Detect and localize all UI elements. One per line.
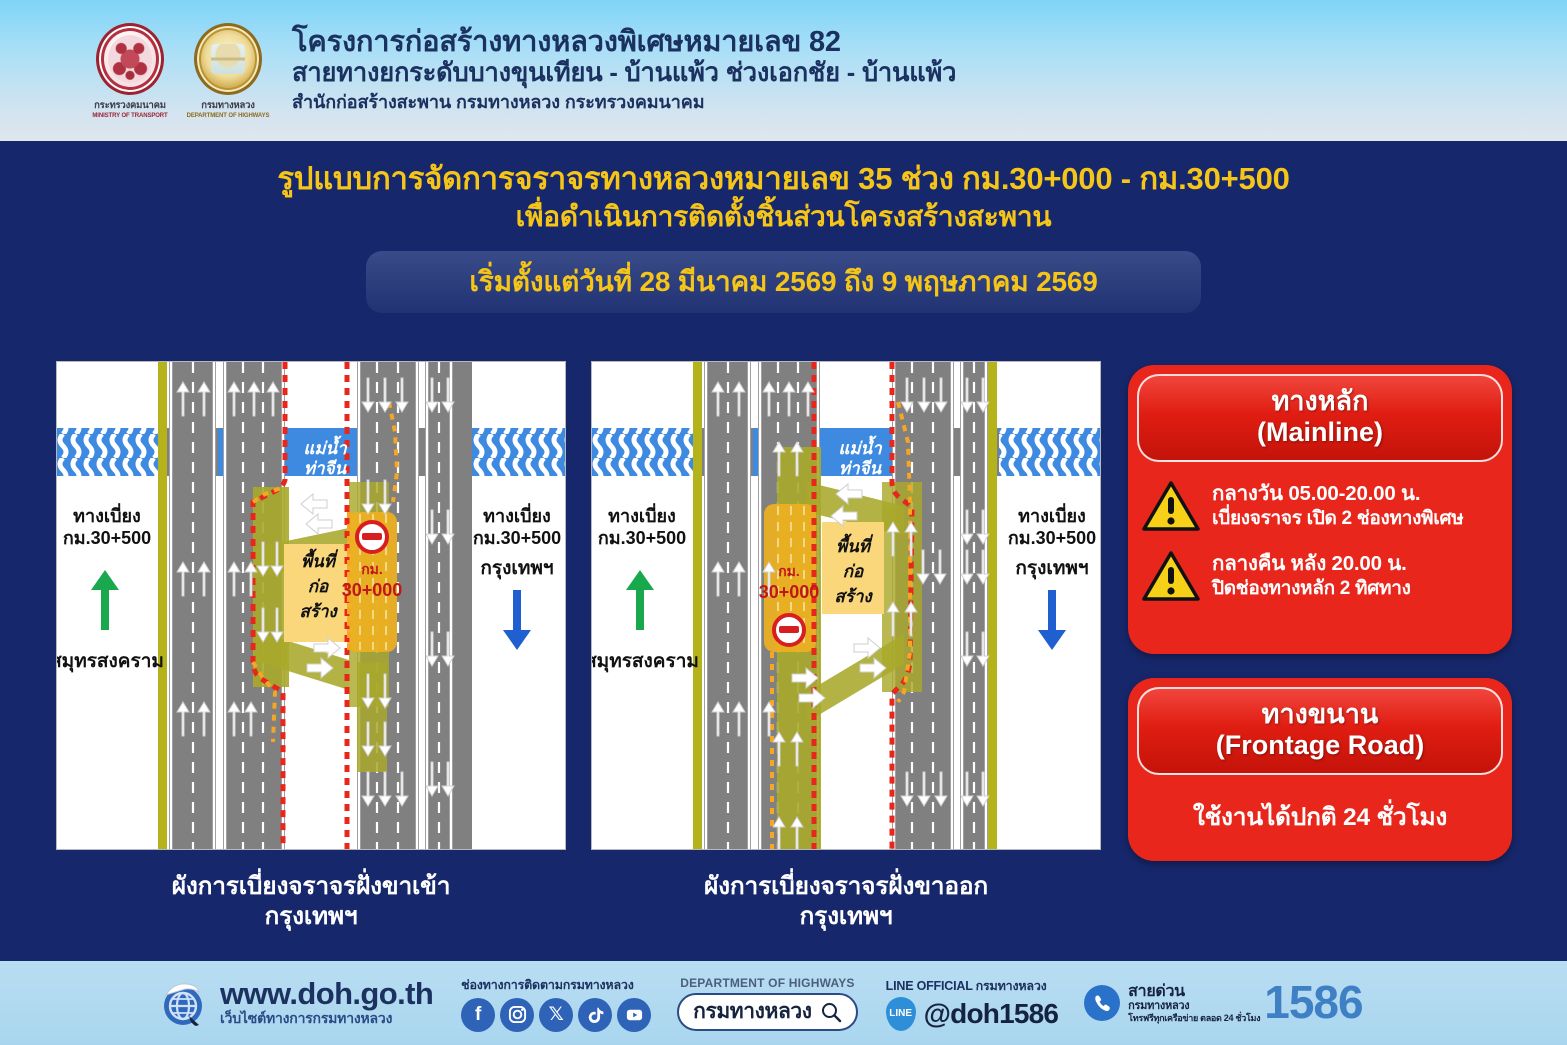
detour-label-left-l1: ทางเบี่ยง — [608, 503, 676, 526]
social-icon-row: f 𝕏 — [461, 998, 651, 1032]
warning-triangle-icon — [1142, 480, 1200, 532]
ministry-of-transport-logo: กระทรวงคมนาคม MINISTRY OF TRANSPORT — [88, 23, 172, 119]
doh-caption-en: DEPARTMENT OF HIGHWAYS — [187, 113, 270, 119]
page-header: กระทรวงคมนาคม MINISTRY OF TRANSPORT กรมท… — [0, 0, 1567, 141]
mainline-title-en: (Mainline) — [1145, 417, 1495, 448]
youtube-icon[interactable] — [617, 998, 651, 1032]
frontage-title-th: ทางขนาน — [1145, 699, 1495, 730]
detour-label-left-l1: ทางเบี่ยง — [73, 503, 141, 526]
line-app-icon[interactable]: LINE — [886, 997, 916, 1031]
frontage-card-header: ทางขนาน (Frontage Road) — [1137, 687, 1503, 775]
mainline-card-header: ทางหลัก (Mainline) — [1137, 374, 1503, 462]
doh-caption-th: กรมทางหลวง — [201, 98, 254, 113]
globe-website-icon — [156, 976, 210, 1030]
facebook-icon[interactable]: f — [461, 998, 495, 1032]
hotline-block: สายด่วน กรมทางหลวง โทรฟรีทุกเครือข่าย ตล… — [1084, 982, 1362, 1023]
direction-label-right: กรุงเทพฯ — [1015, 558, 1088, 580]
diagram-caption-inbound: ผังการเบี่ยงจราจรฝั่งขาเข้า กรุงเทพฯ — [56, 872, 566, 932]
line-official-id[interactable]: @doh1586 — [924, 998, 1059, 1030]
department-of-highways-logo: กรมทางหลวง DEPARTMENT OF HIGHWAYS — [186, 23, 270, 119]
main-title-block: รูปแบบการจัดการจราจรทางหลวงหมายเลข 35 ช่… — [0, 160, 1567, 313]
caption-outbound-line2: กรุงเทพฯ — [591, 902, 1101, 932]
hotline-label-line1: สายด่วน — [1128, 984, 1260, 1000]
x-twitter-icon[interactable]: 𝕏 — [539, 998, 573, 1032]
website-subtitle: เว็บไซต์ทางการกรมทางหลวง — [220, 1009, 433, 1029]
tiktok-icon[interactable] — [578, 998, 612, 1032]
header-title-block: โครงการก่อสร้างทางหลวงพิเศษหมายเลข 82 สา… — [292, 26, 956, 114]
traffic-diagram-inbound-svg: ทางเบี่ยง กม.30+500 สมุทรสงคราม ทางเบี่ย… — [57, 362, 566, 850]
frontage-note: ใช้งานได้ปกติ 24 ชั่วโมง — [1128, 797, 1512, 836]
phone-icon — [1084, 985, 1120, 1021]
river-label-l2: ท่าจีน — [304, 459, 348, 478]
detour-label-right-l2: กม.30+500 — [473, 528, 561, 548]
website-url[interactable]: www.doh.go.th — [220, 978, 433, 1009]
ministry-of-transport-seal-icon — [96, 23, 164, 95]
info-card-mainline: ทางหลัก (Mainline) กลางวัน 05.00-20.00 น… — [1128, 365, 1512, 654]
social-block: ช่องทางการติดตามกรมทางหลวง f 𝕏 — [461, 975, 651, 1032]
search-icon — [820, 1001, 842, 1023]
detour-label-right-l2: กม.30+500 — [1008, 528, 1096, 548]
work-zone-label-l1: พื้นที่ — [836, 533, 874, 556]
caption-inbound-line1: ผังการเบี่ยงจราจรฝั่งขาเข้า — [56, 872, 566, 902]
main-title-line2: เพื่อดำเนินการติดตั้งชิ้นส่วนโครงสร้างสะ… — [0, 199, 1567, 235]
work-zone-label-l3: สร้าง — [299, 602, 338, 621]
hotline-note: โทรฟรีทุกเครือข่าย ตลอด 24 ชั่วโมง — [1128, 1013, 1260, 1024]
warning-triangle-icon — [1142, 550, 1200, 602]
nighttime-note-line2: ปิดช่องทางหลัก 2 ทิศทาง — [1212, 577, 1411, 601]
direction-label-left: สมุทรสงคราม — [592, 651, 699, 673]
mainline-note-daytime: กลางวัน 05.00-20.00 น. เบี่ยงจราจร เปิด … — [1128, 480, 1512, 532]
website-block[interactable]: www.doh.go.th เว็บไซต์ทางการกรมทางหลวง — [220, 978, 433, 1029]
km-marker-l2: 30+000 — [342, 580, 403, 600]
nighttime-note-line1: กลางคืน หลัง 20.00 น. — [1212, 552, 1411, 577]
header-logos: กระทรวงคมนาคม MINISTRY OF TRANSPORT กรมท… — [88, 23, 270, 119]
project-agency-line: สำนักก่อสร้างสะพาน กรมทางหลวง กระทรวงคมน… — [292, 90, 956, 114]
date-range-badge: เริ่มตั้งแต่วันที่ 28 มีนาคม 2569 ถึง 9 … — [366, 251, 1201, 313]
direction-label-right: กรุงเทพฯ — [480, 558, 553, 580]
project-title-line1: โครงการก่อสร้างทางหลวงพิเศษหมายเลข 82 — [292, 26, 956, 58]
diagram-caption-outbound: ผังการเบี่ยงจราจรฝั่งขาออก กรุงเทพฯ — [591, 872, 1101, 932]
detour-label-left-l2: กม.30+500 — [598, 528, 686, 548]
river-label-l2: ท่าจีน — [839, 459, 883, 478]
date-range-text: เริ่มตั้งแต่วันที่ 28 มีนาคม 2569 ถึง 9 … — [469, 260, 1097, 304]
mainline-note-nighttime: กลางคืน หลัง 20.00 น. ปิดช่องทางหลัก 2 ท… — [1128, 550, 1512, 602]
line-official-label: LINE OFFICIAL กรมทางหลวง — [886, 976, 1059, 996]
hotline-number[interactable]: 1586 — [1264, 982, 1362, 1023]
department-of-highways-seal-icon — [194, 23, 262, 95]
direction-label-left: สมุทรสงคราม — [57, 651, 164, 673]
work-zone-label-l2: ก่อ — [308, 577, 330, 596]
km-marker-l2: 30+000 — [759, 582, 820, 602]
traffic-diagram-inbound: ทางเบี่ยง กม.30+500 สมุทรสงคราม ทางเบี่ย… — [56, 361, 566, 850]
traffic-diagram-outbound: ทางเบี่ยง กม.30+500 สมุทรสงคราม ทางเบี่ย… — [591, 361, 1101, 850]
km-marker-l1: กม. — [361, 561, 383, 577]
frontage-title-en: (Frontage Road) — [1145, 730, 1495, 761]
work-zone-label-l3: สร้าง — [834, 587, 873, 606]
main-title-line1: รูปแบบการจัดการจราจรทางหลวงหมายเลข 35 ช่… — [0, 160, 1567, 199]
work-zone-label-l1: พื้นที่ — [301, 548, 339, 571]
line-official-block: LINE OFFICIAL กรมทางหลวง LINE @doh1586 — [886, 976, 1059, 1031]
detour-label-right-l1: ทางเบี่ยง — [1018, 503, 1086, 526]
search-block: DEPARTMENT OF HIGHWAYS กรมทางหลวง — [677, 976, 857, 1031]
social-label: ช่องทางการติดตามกรมทางหลวง — [461, 975, 651, 995]
detour-label-left-l2: กม.30+500 — [63, 528, 151, 548]
daytime-note-line1: กลางวัน 05.00-20.00 น. — [1212, 482, 1463, 507]
search-label: DEPARTMENT OF HIGHWAYS — [677, 976, 857, 990]
info-card-frontage-road: ทางขนาน (Frontage Road) ใช้งานได้ปกติ 24… — [1128, 678, 1512, 861]
km-marker-l1: กม. — [778, 563, 800, 579]
daytime-note-line2: เบี่ยงจราจร เปิด 2 ช่องทางพิเศษ — [1212, 507, 1463, 531]
mot-caption-en: MINISTRY OF TRANSPORT — [92, 113, 167, 119]
no-entry-sign-icon — [357, 522, 387, 552]
caption-outbound-line1: ผังการเบี่ยงจราจรฝั่งขาออก — [591, 872, 1101, 902]
search-input-value: กรมทางหลวง — [693, 995, 811, 1028]
caption-inbound-line2: กรุงเทพฯ — [56, 902, 566, 932]
page-footer: www.doh.go.th เว็บไซต์ทางการกรมทางหลวง ช… — [0, 958, 1567, 1045]
hotline-label-line2: กรมทางหลวง — [1128, 1000, 1260, 1013]
traffic-diagram-outbound-svg: ทางเบี่ยง กม.30+500 สมุทรสงคราม ทางเบี่ย… — [592, 362, 1101, 850]
river-label-l1: แม่น้ำ — [838, 435, 883, 458]
search-input[interactable]: กรมทางหลวง — [677, 993, 857, 1031]
project-title-line2: สายทางยกระดับบางขุนเทียน - บ้านแพ้ว ช่วง… — [292, 59, 956, 88]
river-label-l1: แม่น้ำ — [303, 435, 348, 458]
work-zone-label-l2: ก่อ — [843, 562, 865, 581]
no-entry-sign-icon — [774, 615, 804, 645]
instagram-icon[interactable] — [500, 998, 534, 1032]
mainline-title-th: ทางหลัก — [1145, 386, 1495, 417]
detour-label-right-l1: ทางเบี่ยง — [483, 503, 551, 526]
mot-caption-th: กระทรวงคมนาคม — [94, 98, 166, 113]
